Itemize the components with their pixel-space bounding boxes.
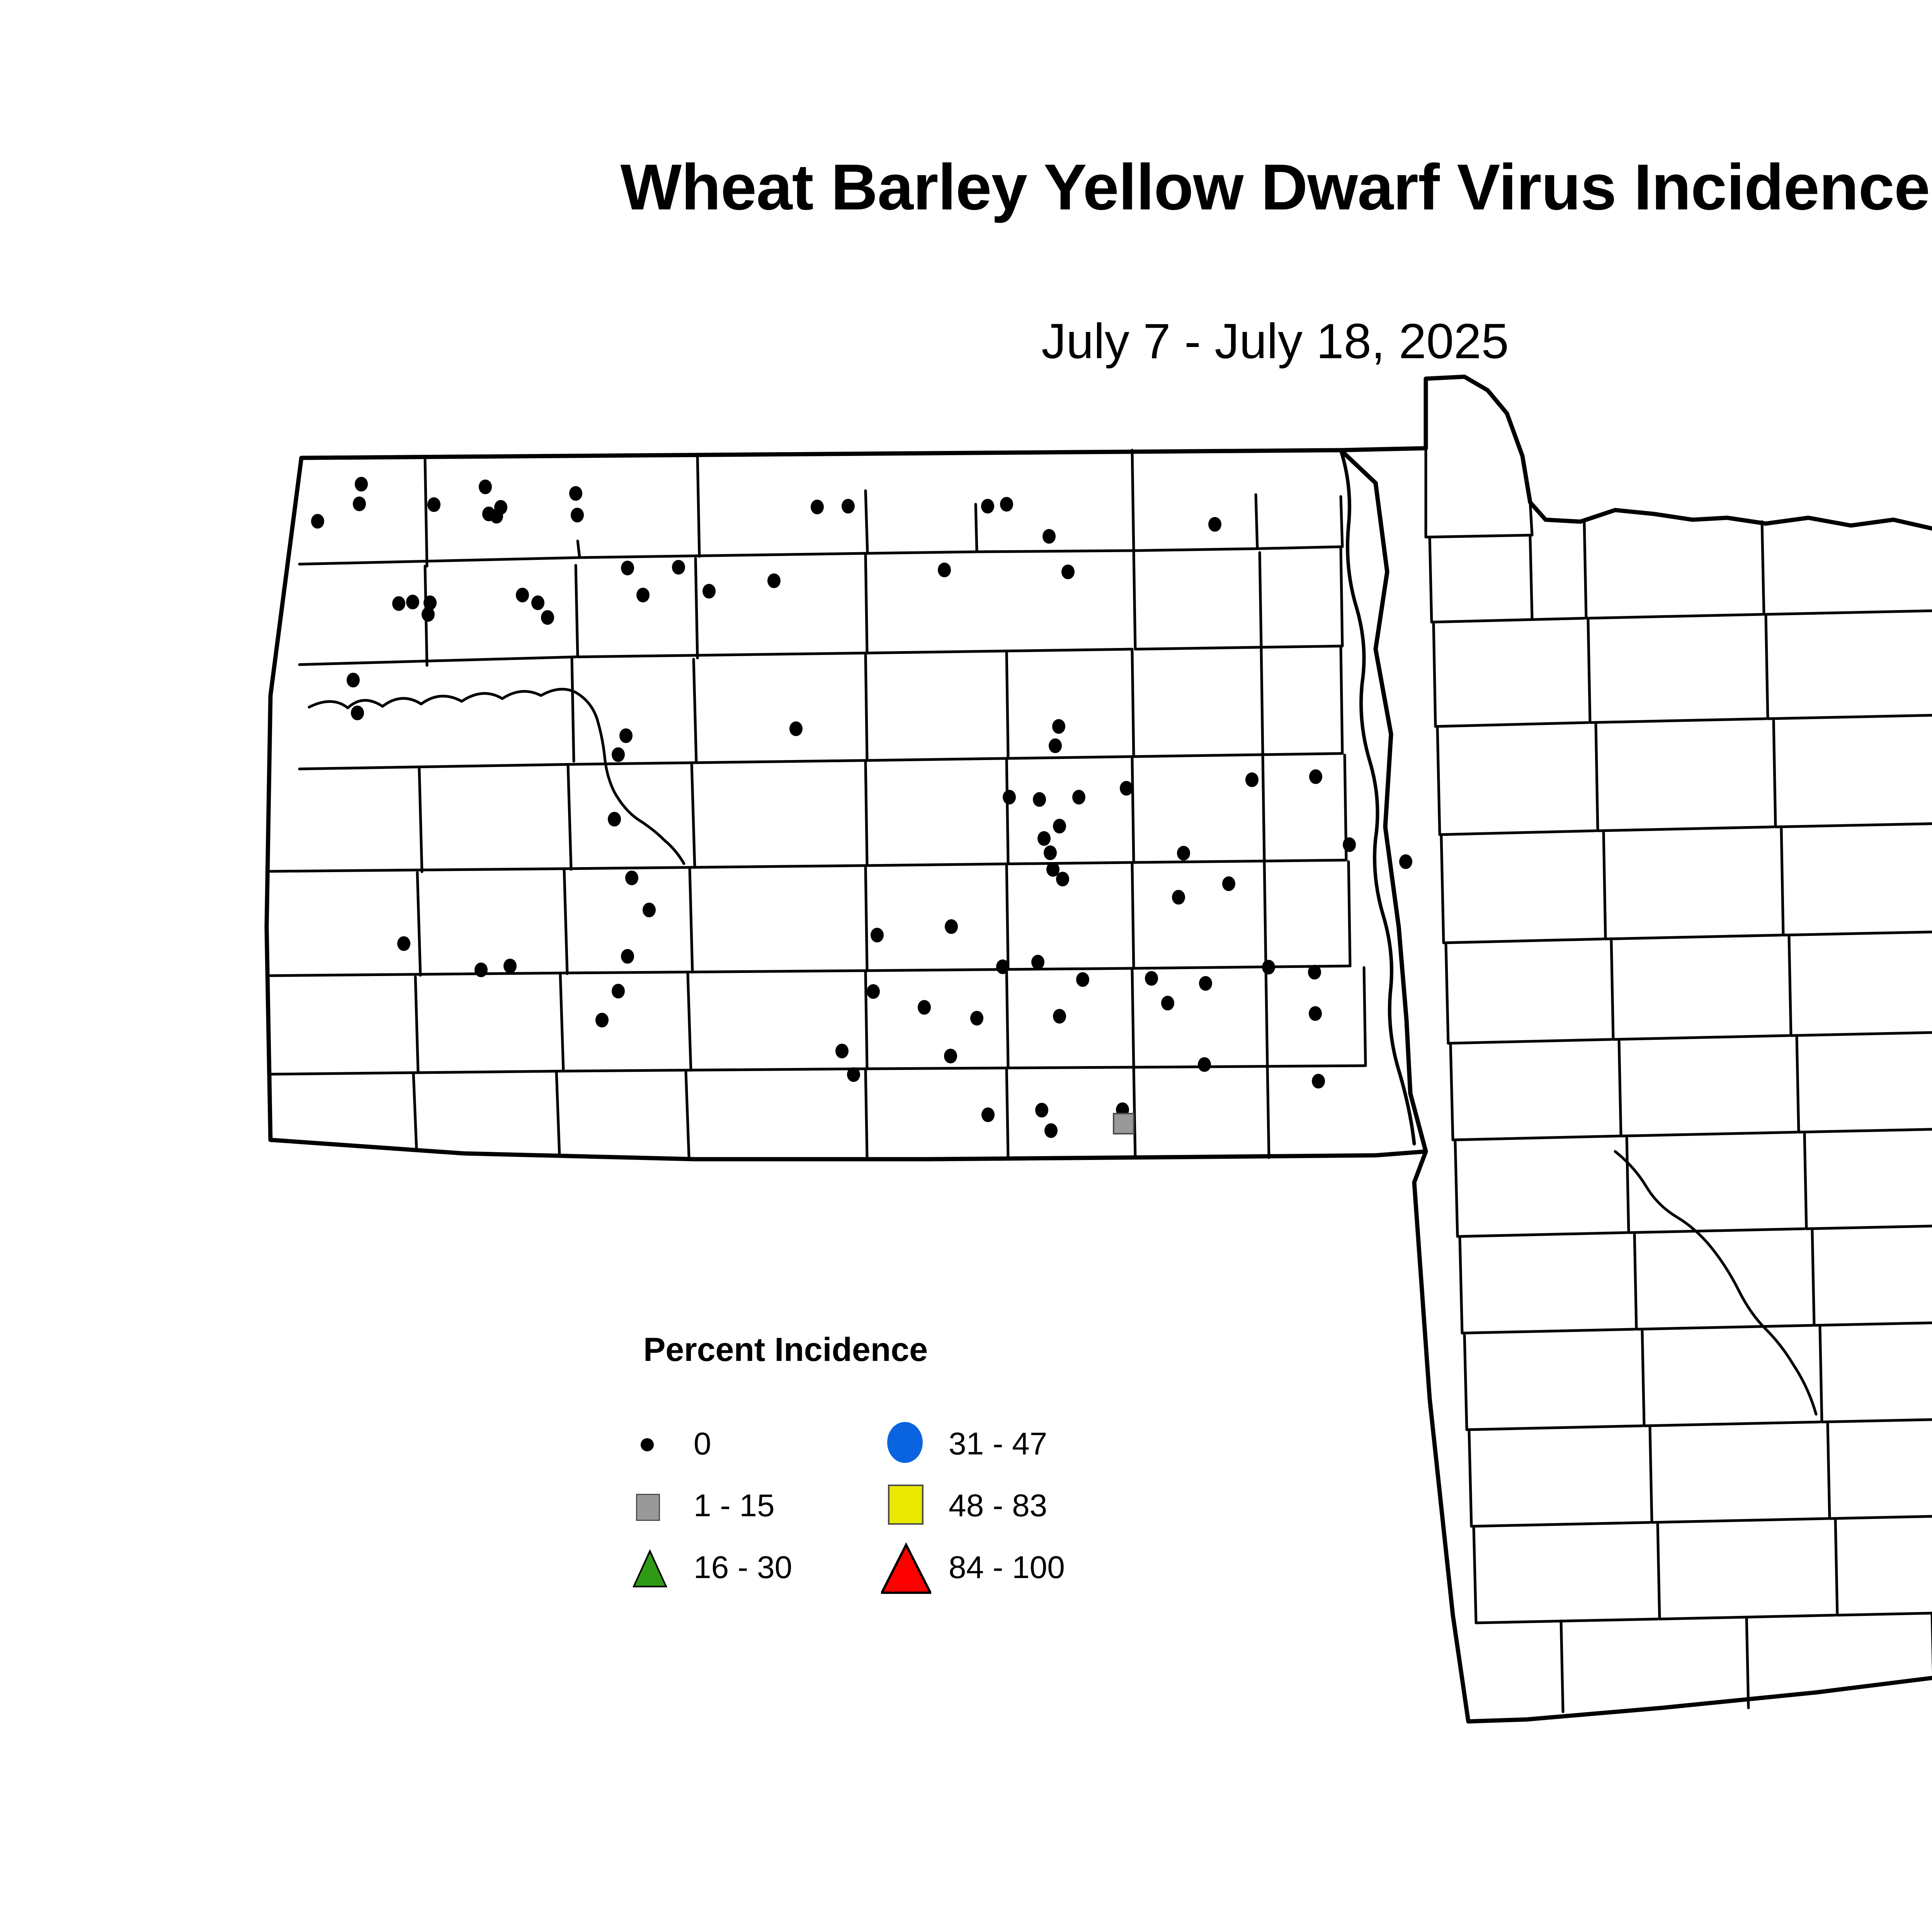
map-data-point bbox=[612, 984, 625, 998]
map-data-point bbox=[397, 936, 410, 951]
map-data-point bbox=[422, 607, 435, 622]
legend-column-right: 31 - 47 48 - 83 84 - 100 bbox=[881, 1418, 1121, 1604]
map-data-point bbox=[945, 919, 958, 934]
green-triangle-icon bbox=[626, 1542, 676, 1596]
map-data-point bbox=[996, 959, 1009, 974]
legend-label-48-83: 48 - 83 bbox=[949, 1484, 1047, 1528]
legend-label-16-30: 16 - 30 bbox=[694, 1546, 792, 1590]
map-data-point bbox=[918, 1000, 931, 1015]
map-data-point bbox=[595, 1013, 609, 1027]
blue-circle-icon bbox=[881, 1418, 931, 1472]
map-data-point bbox=[1037, 831, 1051, 846]
map-data-point bbox=[789, 721, 803, 736]
map-data-point bbox=[835, 1044, 849, 1058]
map-data-point bbox=[625, 871, 638, 885]
map-data-point bbox=[392, 596, 405, 611]
map-data-point bbox=[612, 747, 625, 762]
map-data-point bbox=[1172, 890, 1185, 905]
map-data-point bbox=[1198, 1057, 1211, 1072]
map-data-point bbox=[353, 497, 366, 511]
map-data-point bbox=[619, 728, 633, 743]
map-data-point bbox=[1199, 976, 1212, 991]
map-data-point bbox=[1399, 854, 1412, 869]
map-data-point bbox=[1076, 972, 1089, 987]
map-data-point bbox=[1309, 769, 1322, 784]
legend-item-48-83: 48 - 83 bbox=[881, 1480, 1121, 1542]
legend-column-left: 0 1 - 15 16 - 30 bbox=[626, 1418, 866, 1604]
map-data-point bbox=[702, 584, 716, 599]
legend-item-84-100: 84 - 100 bbox=[881, 1542, 1121, 1604]
map-data-point bbox=[503, 959, 517, 973]
map-data-point bbox=[811, 500, 824, 514]
map-data-point bbox=[1053, 819, 1066, 833]
map-data-point bbox=[494, 500, 507, 515]
map-data-point bbox=[621, 949, 634, 964]
map-data-point bbox=[347, 673, 360, 687]
map-data-point bbox=[1145, 971, 1158, 986]
map-data-point bbox=[474, 963, 488, 977]
map-data-point bbox=[1343, 837, 1356, 852]
map-data-point bbox=[1114, 1114, 1134, 1134]
map-data-point bbox=[981, 1107, 995, 1122]
map-data-point bbox=[406, 595, 419, 609]
map-canvas bbox=[0, 0, 1932, 1932]
map-data-point bbox=[1061, 565, 1075, 579]
map-page: Wheat Barley Yellow Dwarf Virus Incidenc… bbox=[0, 0, 1932, 1932]
map-data-point bbox=[1177, 846, 1190, 861]
map-data-point bbox=[531, 595, 544, 610]
map-data-point bbox=[1309, 1006, 1322, 1021]
legend-title: Percent Incidence bbox=[643, 1333, 1030, 1366]
legend-label-31-47: 31 - 47 bbox=[949, 1422, 1047, 1466]
map-data-point bbox=[1044, 845, 1057, 860]
map-data-point bbox=[1120, 781, 1133, 796]
legend-item-1-15: 1 - 15 bbox=[626, 1480, 866, 1542]
gray-square-icon bbox=[626, 1480, 676, 1534]
map-data-point bbox=[767, 573, 781, 588]
yellow-square-icon bbox=[881, 1480, 931, 1534]
map-data-point bbox=[1056, 872, 1069, 886]
map-data-point bbox=[1072, 790, 1085, 804]
legend-label-1-15: 1 - 15 bbox=[694, 1484, 775, 1528]
legend-item-zero: 0 bbox=[626, 1418, 866, 1480]
map-data-point bbox=[867, 984, 880, 999]
incidence-data-points bbox=[311, 477, 1412, 1138]
map-data-point bbox=[1000, 497, 1013, 512]
map-data-point bbox=[643, 903, 656, 917]
map-data-point bbox=[1044, 1123, 1058, 1138]
map-data-point bbox=[1308, 965, 1321, 980]
map-data-point bbox=[938, 563, 951, 577]
map-data-point bbox=[311, 514, 324, 529]
map-data-point bbox=[541, 610, 554, 625]
map-data-point bbox=[621, 561, 634, 575]
map-data-point bbox=[1262, 960, 1275, 975]
map-data-point bbox=[1033, 792, 1046, 807]
map-data-point bbox=[636, 588, 650, 602]
map-data-point bbox=[608, 812, 621, 827]
small-black-circle-icon bbox=[626, 1418, 676, 1472]
map-data-point bbox=[355, 477, 368, 492]
map-data-point bbox=[1208, 517, 1221, 532]
map-legend: Percent Incidence 0 1 - 15 bbox=[626, 1329, 1167, 1623]
map-data-point bbox=[427, 497, 440, 512]
map-data-point bbox=[1245, 772, 1259, 787]
states-counties-map bbox=[0, 0, 1932, 1932]
map-data-point bbox=[569, 486, 582, 501]
map-data-point bbox=[1052, 719, 1065, 734]
map-data-point bbox=[944, 1049, 957, 1063]
map-data-point bbox=[970, 1011, 983, 1026]
legend-item-31-47: 31 - 47 bbox=[881, 1418, 1121, 1480]
map-data-point bbox=[1003, 790, 1016, 804]
legend-label-84-100: 84 - 100 bbox=[949, 1546, 1065, 1590]
map-data-point bbox=[1043, 529, 1056, 544]
map-data-point bbox=[1049, 738, 1062, 753]
map-data-point bbox=[516, 588, 529, 602]
red-triangle-icon bbox=[881, 1542, 931, 1596]
map-data-point bbox=[672, 560, 685, 575]
map-data-point bbox=[1222, 876, 1235, 891]
map-data-point bbox=[1035, 1103, 1048, 1117]
map-data-point bbox=[981, 499, 994, 514]
map-data-point bbox=[1031, 955, 1044, 969]
map-data-point bbox=[571, 508, 584, 522]
map-data-point bbox=[871, 928, 884, 942]
map-data-point bbox=[842, 499, 855, 514]
legend-label-zero: 0 bbox=[694, 1422, 711, 1466]
map-data-point bbox=[1312, 1074, 1325, 1088]
legend-item-16-30: 16 - 30 bbox=[626, 1542, 866, 1604]
map-data-point bbox=[479, 480, 492, 494]
map-data-point bbox=[351, 706, 364, 720]
map-data-point bbox=[1161, 996, 1174, 1010]
map-data-point bbox=[1053, 1009, 1066, 1024]
map-data-point bbox=[847, 1067, 860, 1082]
